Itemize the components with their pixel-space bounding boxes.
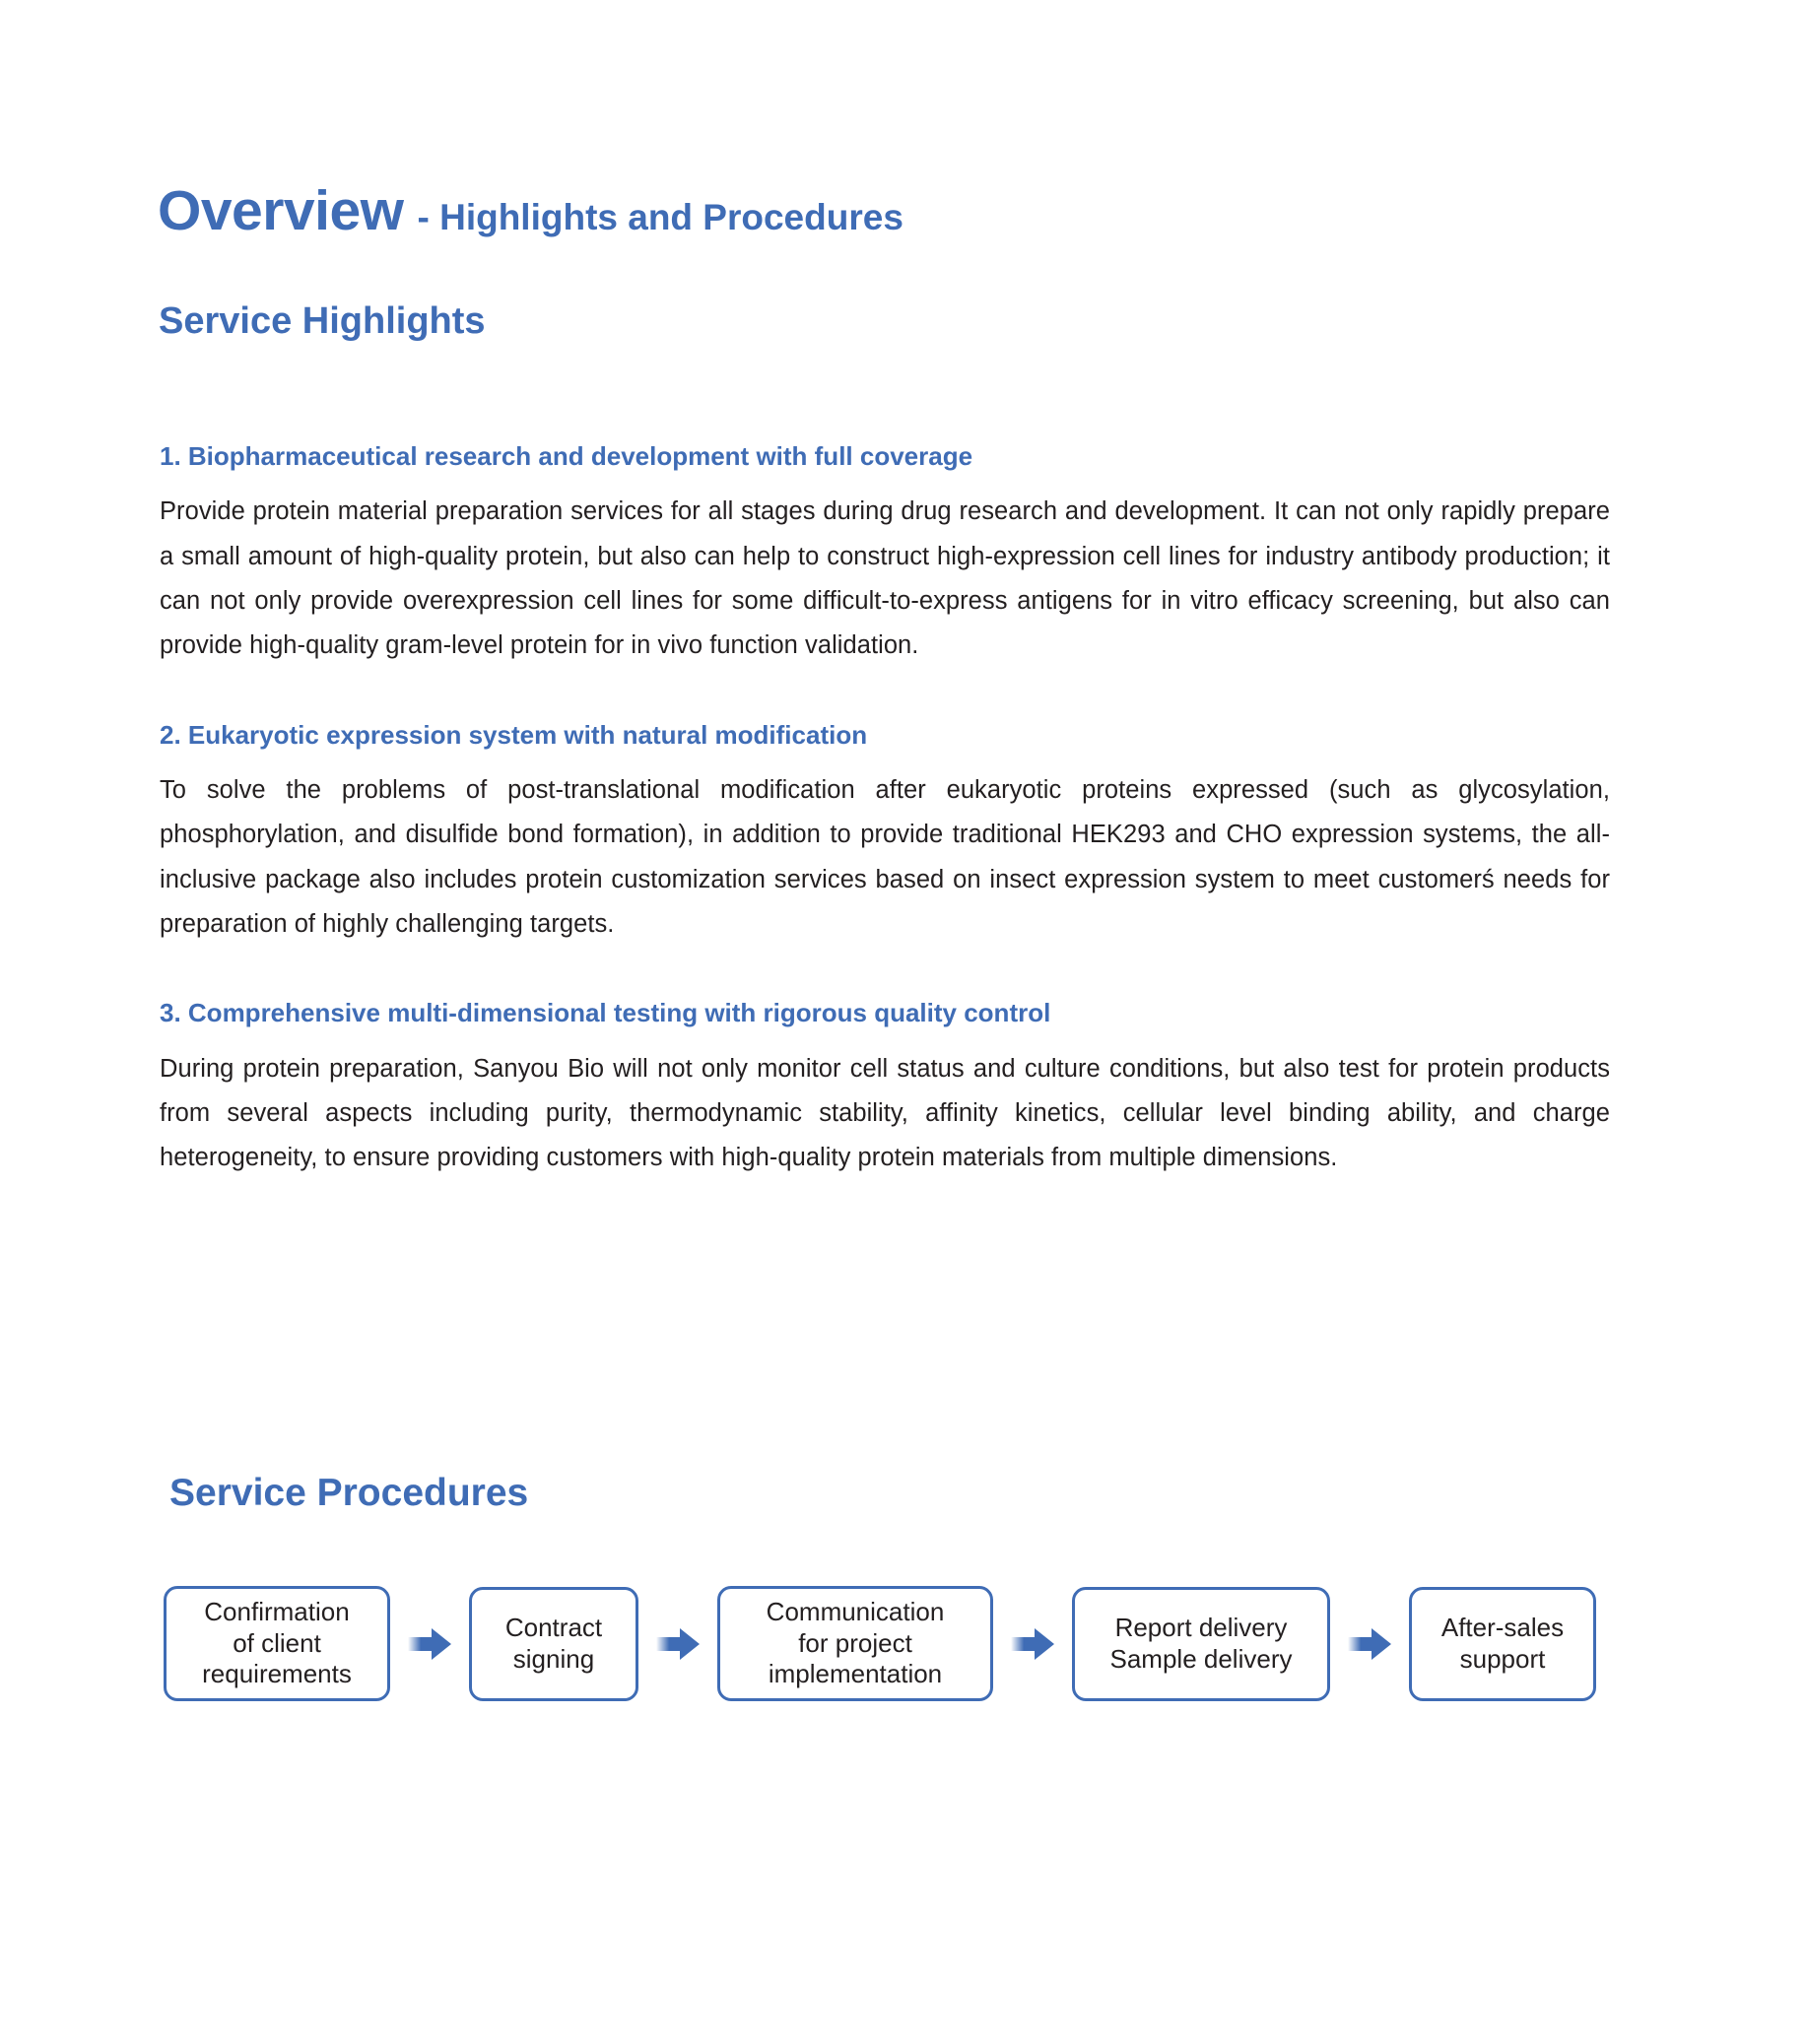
highlight-heading-2: 2. Eukaryotic expression system with nat…	[160, 720, 1610, 751]
flow-step-box[interactable]: Report delivery Sample delivery	[1072, 1587, 1330, 1701]
arrow-right-icon	[404, 1624, 455, 1664]
flow-step-label: After-sales support	[1441, 1613, 1564, 1675]
page-title: Overview - Highlights and Procedures	[158, 183, 903, 239]
highlight-body-1: Provide protein material preparation ser…	[160, 490, 1610, 669]
highlight-body-3: During protein preparation, Sanyou Bio w…	[160, 1047, 1610, 1181]
flow-step-box[interactable]: After-sales support	[1409, 1587, 1596, 1701]
highlight-body-2: To solve the problems of post-translatio…	[160, 768, 1610, 948]
arrow-right-icon	[1344, 1624, 1395, 1664]
highlight-heading-1: 1. Biopharmaceutical research and develo…	[160, 441, 1610, 472]
highlight-item-2: 2. Eukaryotic expression system with nat…	[160, 720, 1610, 948]
highlight-item-1: 1. Biopharmaceutical research and develo…	[160, 441, 1610, 669]
flow-step-box[interactable]: Contract signing	[469, 1587, 638, 1701]
flow-step-box[interactable]: Communication for project implementation	[717, 1586, 993, 1701]
highlight-item-3: 3. Comprehensive multi-dimensional testi…	[160, 998, 1610, 1180]
arrow-right-icon	[652, 1624, 703, 1664]
document-page: Overview - Highlights and Procedures Ser…	[0, 0, 1807, 2044]
service-procedures-flow: Confirmation of client requirementsContr…	[164, 1586, 1596, 1701]
flow-step-label: Contract signing	[505, 1613, 602, 1675]
page-title-subtitle: - Highlights and Procedures	[418, 199, 903, 235]
highlight-heading-3: 3. Comprehensive multi-dimensional testi…	[160, 998, 1610, 1028]
arrow-right-icon	[1007, 1624, 1058, 1664]
page-title-main: Overview	[158, 183, 404, 239]
flow-step-box[interactable]: Confirmation of client requirements	[164, 1586, 390, 1701]
flow-step-label: Report delivery Sample delivery	[1110, 1613, 1293, 1675]
service-procedures-heading: Service Procedures	[169, 1474, 528, 1512]
flow-step-label: Confirmation of client requirements	[202, 1597, 352, 1690]
service-highlights-list: 1. Biopharmaceutical research and develo…	[160, 441, 1610, 1181]
flow-step-label: Communication for project implementation	[767, 1597, 945, 1690]
service-highlights-heading: Service Highlights	[159, 302, 486, 340]
